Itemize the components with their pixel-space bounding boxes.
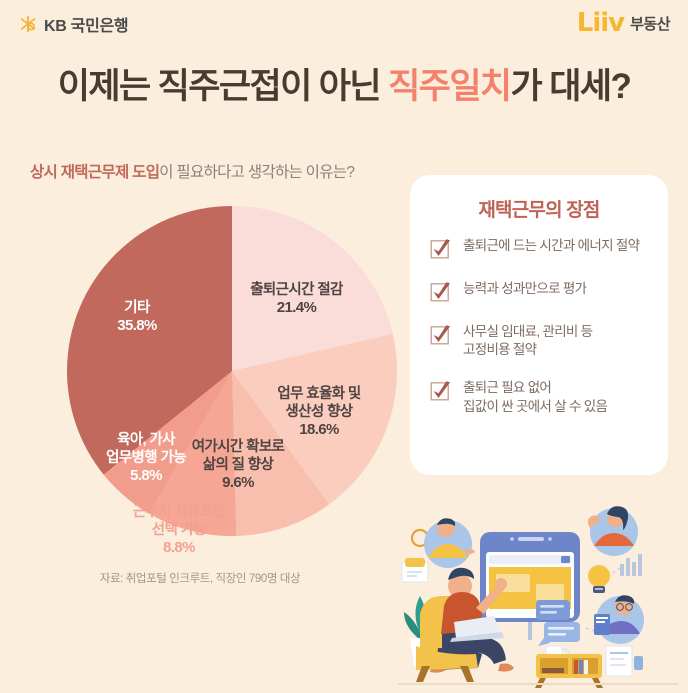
lightbulb-icon: [588, 565, 610, 593]
headline-highlight: 직주일치: [388, 67, 510, 106]
list-item-text: 출퇴근 필요 없어 집값이 싼 곳에서 살 수 있음: [463, 379, 607, 415]
bar-chart-icon: [620, 554, 642, 576]
avatar-person-purple: [594, 595, 644, 644]
checkbox-checked-icon: [430, 380, 452, 402]
liiv-sub-label: 부동산: [630, 14, 670, 37]
pie-label-workplace-choice: 근무지 자유로운 선택 가능 8.8%: [104, 503, 254, 558]
headline-part-1: 이제는 직주근접이 아닌: [58, 67, 388, 106]
checkbox-checked-icon: [430, 238, 452, 260]
list-item-text: 출퇴근에 드는 시간과 에너지 절약: [463, 237, 639, 255]
pie-label-productivity: 업무 효율화 및 생산성 향상 18.6%: [244, 385, 394, 440]
page-title: 이제는 직주근접이 아닌 직주일치가 대세?: [0, 58, 688, 109]
seated-person-main: [416, 568, 514, 682]
pie-label-etc: 기타 35.8%: [82, 299, 192, 336]
liiv-logo: Liiv 부동산: [577, 10, 670, 36]
list-item: 사무실 임대료, 관리비 등 고정비용 절약: [430, 323, 654, 359]
pie-label-commute-time: 출퇴근시간 절감 21.4%: [214, 281, 379, 318]
chart-source-note: 자료: 취업포털 인크루트, 직장인 790명 대상: [0, 570, 400, 586]
avatar-person-yellow: [424, 518, 475, 568]
chart-question: 상시 재택근무제 도입이 필요하다고 생각하는 이유는?: [30, 160, 354, 182]
avatar-person-orange: [588, 506, 638, 556]
list-item: 출퇴근에 드는 시간과 에너지 절약: [430, 237, 654, 260]
liiv-wordmark: Liiv: [577, 10, 624, 36]
mail-card-icon: [402, 558, 428, 582]
checkbox-checked-icon: [430, 324, 452, 346]
list-item: 능력과 성과만으로 평가: [430, 280, 654, 303]
benefits-list: 출퇴근에 드는 시간과 에너지 절약 능력과 성과만으로 평가: [430, 237, 654, 436]
list-item-text: 능력과 성과만으로 평가: [463, 280, 586, 298]
checkbox-checked-icon: [430, 281, 452, 303]
chart-question-rest: 이 필요하다고 생각하는 이유는?: [159, 164, 354, 181]
benefits-panel-title: 재택근무의 장점: [410, 195, 668, 222]
remote-work-illustration: [388, 488, 688, 688]
pie-chart: 출퇴근시간 절감 21.4% 업무 효율화 및 생산성 향상 18.6% 여가시…: [62, 203, 402, 558]
list-item-text: 사무실 임대료, 관리비 등 고정비용 절약: [463, 323, 592, 359]
header-bar: KB 국민은행 Liiv 부동산: [0, 0, 688, 52]
benefits-panel: 재택근무의 장점 출퇴근에 드는 시간과 에너지 절약: [410, 175, 668, 475]
list-item: 출퇴근 필요 없어 집값이 싼 곳에서 살 수 있음: [430, 379, 654, 415]
kb-bank-logo: KB 국민은행: [18, 12, 128, 36]
infographic-canvas: KB 국민은행 Liiv 부동산 이제는 직주근접이 아닌 직주일치가 대세? …: [0, 0, 688, 688]
headline-part-2: 가 대세?: [511, 67, 631, 106]
document-icon: [606, 646, 643, 676]
kb-star-icon: [18, 14, 38, 34]
kb-logo-text: KB 국민은행: [44, 12, 128, 36]
pie-label-childcare: 육아, 가사 업무병행 가능 5.8%: [76, 431, 216, 486]
side-table: [535, 654, 603, 688]
chart-question-emphasis: 상시 재택근무제 도입: [30, 164, 159, 181]
